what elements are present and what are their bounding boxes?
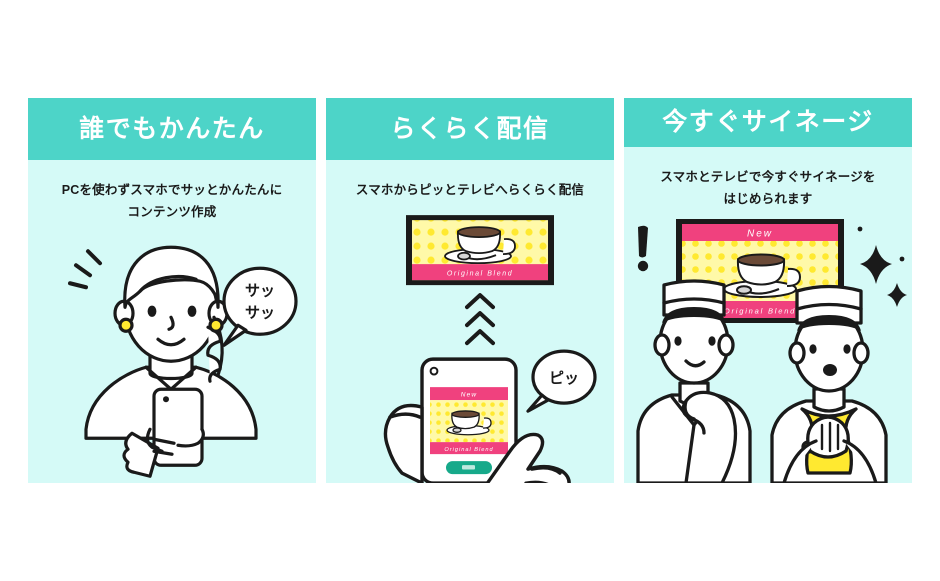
panel-signage-header: 今すぐサイネージ — [624, 98, 912, 147]
tv-screen: Original Blend — [406, 215, 554, 285]
panel-signage-title: 今すぐサイネージ — [662, 110, 874, 135]
bubble-pi-text: ピッ — [549, 370, 579, 387]
tv-banner-bottom: Original Blend — [447, 271, 513, 278]
promo-feature-graphic: 誰でもかんたん PCを使わずスマホでサッとかんたんに コンテンツ作成 — [0, 0, 940, 581]
panel-signage-subtitle: スマホとテレビで今すぐサイネージを はじめられます — [660, 167, 875, 211]
two-chefs-illustration: New Original Blend — [624, 211, 912, 483]
exclamation-mark-icon — [638, 226, 648, 271]
phone-casting-to-tv-illustration: Original Blend — [326, 202, 614, 483]
panel-easy-title: 誰でもかんたん — [79, 117, 265, 142]
panel-easy: 誰でもかんたん PCを使わずスマホでサッとかんたんに コンテンツ作成 — [28, 98, 316, 483]
panel-delivery-title: らくらく配信 — [390, 117, 549, 142]
panel-row: 誰でもかんたん PCを使わずスマホでサッとかんたんに コンテンツ作成 — [28, 98, 912, 483]
bubble-line-1: サッ — [245, 282, 275, 299]
up-chevrons-icon — [467, 295, 493, 343]
signage-banner-bottom: Original Blend — [724, 307, 796, 316]
motion-lines-icon — [70, 251, 100, 287]
panel-delivery: らくらく配信 スマホからピッとテレビへらくらく配信 — [326, 98, 614, 483]
woman-with-smartphone-illustration: サッ サッ — [28, 224, 316, 483]
panel-delivery-header: らくらく配信 — [326, 98, 614, 160]
panel-signage: 今すぐサイネージ スマホとテレビで今すぐサイネージを はじめられます — [624, 98, 912, 483]
signage-banner-top: New — [747, 229, 773, 240]
speech-bubble-satto: サッ サッ — [224, 268, 296, 345]
phone-banner-top: New — [461, 392, 478, 399]
panel-delivery-subtitle: スマホからピッとテレビへらくらく配信 — [356, 180, 584, 202]
phone-banner-bottom: Original Blend — [444, 447, 493, 453]
panel-easy-subtitle: PCを使わずスマホでサッとかんたんに コンテンツ作成 — [62, 180, 283, 224]
speech-bubble-pi: ピッ — [528, 351, 595, 411]
bubble-line-2: サッ — [245, 304, 275, 321]
sparkles-icon — [858, 227, 907, 307]
panel-easy-header: 誰でもかんたん — [28, 98, 316, 160]
